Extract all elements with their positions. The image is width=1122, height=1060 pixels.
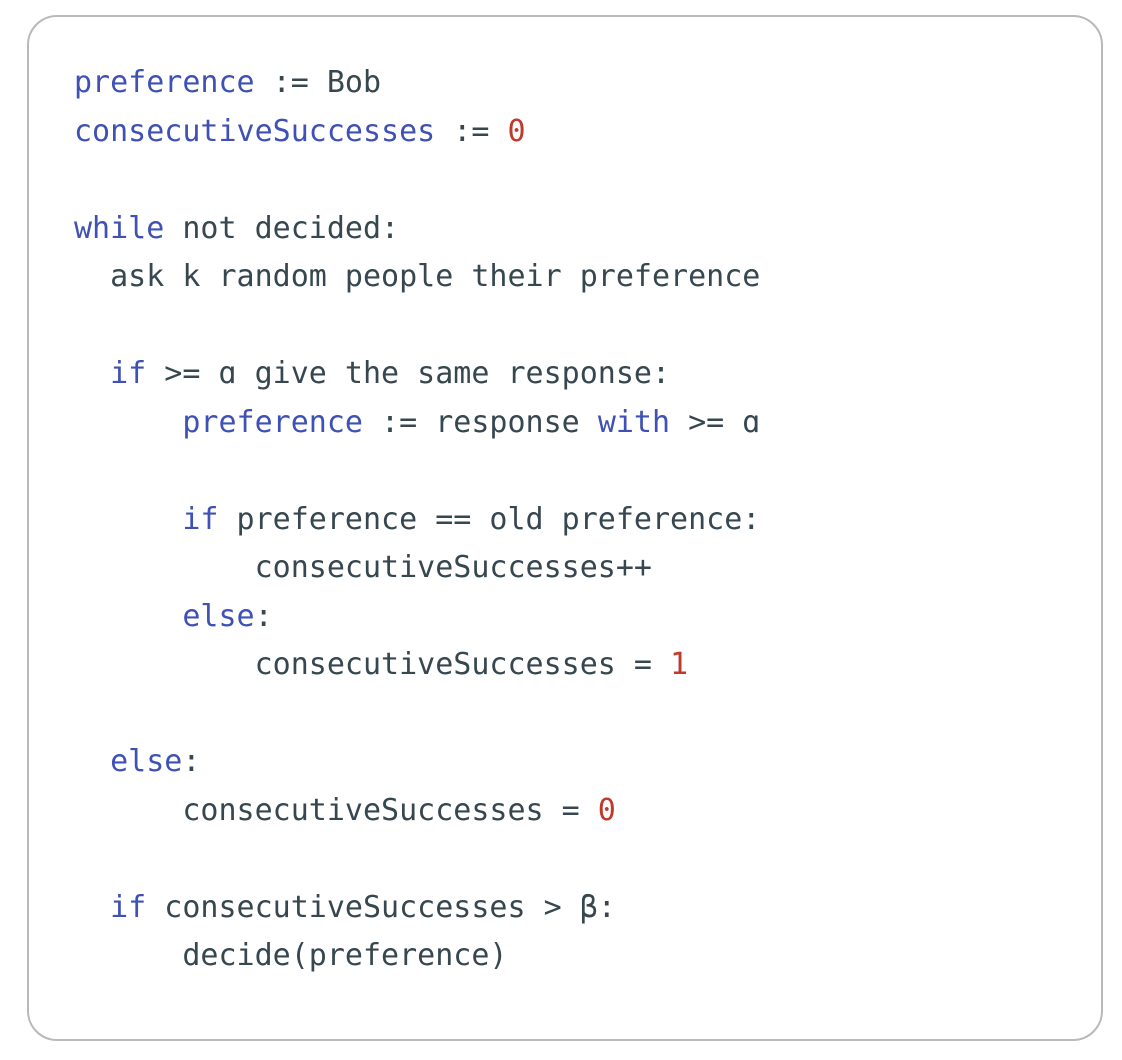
code-line: consecutiveSuccesses = 0 [74,787,760,836]
code-token-var: preference [74,65,255,100]
code-indent [74,744,110,779]
code-token-txt: : [182,744,200,779]
code-line: if preference == old preference: [74,496,760,545]
code-line-blank [74,302,760,351]
code-token-kw: if [110,356,146,391]
pseudocode-block: preference := BobconsecutiveSuccesses :=… [74,59,760,981]
code-token-txt: consecutiveSuccesses++ [255,550,652,585]
code-line: else: [74,738,760,787]
code-token-kw: if [182,502,218,537]
code-indent [74,259,110,294]
code-token-num: 1 [670,647,688,682]
code-line: preference := Bob [74,59,760,108]
code-token-txt: decide(preference) [182,938,507,973]
code-token-kw: if [110,890,146,925]
code-line: if >= ɑ give the same response: [74,350,760,399]
code-line: decide(preference) [74,932,760,981]
code-token-txt: not decided: [164,211,399,246]
page-root: preference := BobconsecutiveSuccesses :=… [0,0,1122,1060]
code-token-txt: >= ɑ give the same response: [146,356,670,391]
code-token-txt: : [255,599,273,634]
code-token-txt: := [435,114,507,149]
pseudocode-card: preference := BobconsecutiveSuccesses :=… [27,15,1103,1041]
code-line: consecutiveSuccesses++ [74,544,760,593]
code-indent [74,793,182,828]
code-indent [74,356,110,391]
code-indent [74,647,255,682]
code-line-blank [74,447,760,496]
code-line: while not decided: [74,205,760,254]
code-token-var: preference [182,405,363,440]
code-token-kw: with [598,405,670,440]
code-line: consecutiveSuccesses = 1 [74,641,760,690]
code-line: ask k random people their preference [74,253,760,302]
code-token-var: consecutiveSuccesses [74,114,435,149]
code-indent [74,405,182,440]
code-line-blank [74,156,760,205]
code-indent [74,599,182,634]
code-token-txt: := response [363,405,598,440]
code-line: if consecutiveSuccesses > β: [74,884,760,933]
code-token-kw: else [110,744,182,779]
code-token-txt: ask k random people their preference [110,259,760,294]
code-line-blank [74,690,760,739]
code-token-txt: >= ɑ [670,405,760,440]
code-token-txt: consecutiveSuccesses > β: [146,890,616,925]
code-line: else: [74,593,760,642]
code-line: consecutiveSuccesses := 0 [74,108,760,157]
code-line-blank [74,835,760,884]
code-token-txt: consecutiveSuccesses = [255,647,670,682]
code-token-kw: while [74,211,164,246]
code-token-txt: preference == old preference: [219,502,761,537]
code-token-kw: else [182,599,254,634]
code-token-txt: consecutiveSuccesses = [182,793,597,828]
code-token-num: 0 [598,793,616,828]
code-indent [74,502,182,537]
code-indent [74,938,182,973]
code-indent [74,890,110,925]
code-line: preference := response with >= ɑ [74,399,760,448]
code-token-num: 0 [507,114,525,149]
code-indent [74,550,255,585]
code-token-txt: := Bob [255,65,381,100]
